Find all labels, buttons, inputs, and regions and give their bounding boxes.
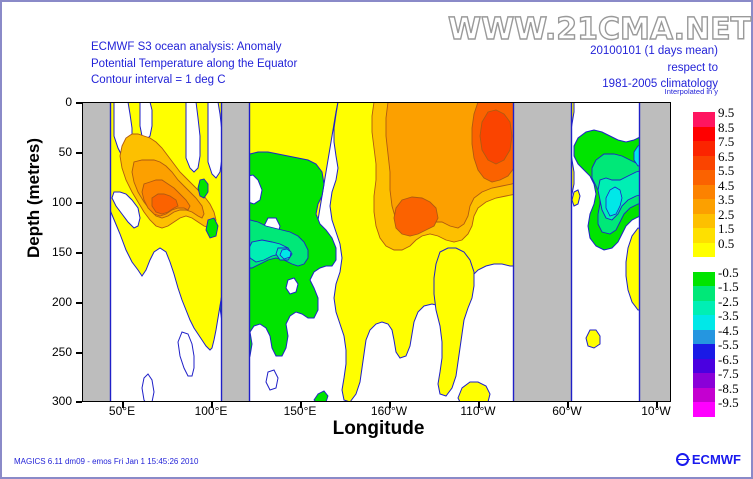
colorbar-label-15: -5.5 [718,338,739,351]
colorbar-swatch-warm-1 [693,127,715,142]
colorbar-swatch-cool-1 [693,286,715,301]
footer-credit: MAGICS 6.11 dm09 - emos Fri Jan 1 15:45:… [14,457,198,466]
colorbar-label-11: -1.5 [718,280,739,293]
ytick-mark [76,202,82,204]
colorbar-swatch-cool-5 [693,344,715,359]
ytick-mark [76,102,82,104]
colorbar-label-13: -3.5 [718,309,739,322]
ecmwf-logo-text: ECMWF [692,452,741,467]
xtick-label-60W: 60°W [532,404,602,418]
colorbar-swatch-warm-7 [693,214,715,229]
colorbar-swatch-cool-4 [693,330,715,345]
colorbar-label-8: 1.5 [718,222,734,235]
colorbar-label-17: -7.5 [718,367,739,380]
colorbar-swatch-neutral [693,257,715,272]
ytick-label-0: 0 [32,95,72,109]
ytick-mark [76,401,82,403]
colorbar-swatch-warm-9 [693,243,715,258]
respect-to-line: respect to [590,60,718,77]
colorbar-label-12: -2.5 [718,295,739,308]
title-line-3: Contour interval = 1 deg C [91,72,297,89]
colorbar-swatch-cool-3 [693,315,715,330]
colorbar-label-9: 0.5 [718,237,734,250]
contour-plot [82,102,671,402]
colorbar-swatch-warm-5 [693,185,715,200]
xtick-label-160W: 160°W [354,404,424,418]
date-line: 20100101 (1 days mean) [590,43,718,60]
ytick-label-300: 300 [32,394,72,408]
xtick-label-100E: 100°E [176,404,246,418]
xtick-label-10W: 10°W [621,404,691,418]
colorbar-swatch-warm-0 [693,112,715,127]
ytick-label-200: 200 [32,295,72,309]
colorbar-label-1: 8.5 [718,121,734,134]
colorbar-swatch-warm-2 [693,141,715,156]
colorbar-label-6: 3.5 [718,193,734,206]
y-axis-label: Depth (metres) [24,108,44,288]
colorbar-label-2: 7.5 [718,135,734,148]
colorbar-label-5: 4.5 [718,179,734,192]
ytick-mark [76,152,82,154]
ecmwf-logo: ECMWF [676,452,741,467]
x-axis-label: Longitude [2,418,753,440]
ytick-mark [76,302,82,304]
colorbar-label-10: -0.5 [718,266,739,279]
xtick-label-150E: 150°E [265,404,335,418]
colorbar-label-19: -9.5 [718,396,739,409]
colorbar-swatch-cool-9 [693,402,715,417]
watermark-text: WWW.21CMA.NET [448,12,751,47]
title-right-block: 20100101 (1 days mean) respect to 1981-2… [590,43,718,93]
title-line-1: ECMWF S3 ocean analysis: Anomaly [91,39,297,56]
colorbar-label-18: -8.5 [718,382,739,395]
colorbar-label-14: -4.5 [718,324,739,337]
colorbar-label-4: 5.5 [718,164,734,177]
ytick-label-250: 250 [32,345,72,359]
xtick-label-50E: 50°E [87,404,157,418]
colorbar-label-0: 9.5 [718,106,734,119]
title-left-block: ECMWF S3 ocean analysis: Anomaly Potenti… [91,39,297,89]
colorbar-swatch-warm-3 [693,156,715,171]
interpolated-note: Interpolated in y [665,87,718,96]
figure-root: WWW.21CMA.NET ECMWF S3 ocean analysis: A… [0,0,753,479]
colorbar-swatch-cool-7 [693,373,715,388]
colorbar-swatch-warm-8 [693,228,715,243]
colorbar-label-3: 6.5 [718,150,734,163]
colorbar-swatch-cool-2 [693,301,715,316]
xtick-label-110W: 110°W [443,404,513,418]
ytick-mark [76,352,82,354]
globe-icon [676,453,689,466]
colorbar-swatch-cool-6 [693,359,715,374]
ytick-mark [76,252,82,254]
colorbar-swatch-warm-6 [693,199,715,214]
title-line-2: Potential Temperature along the Equator [91,56,297,73]
colorbar-swatch-warm-4 [693,170,715,185]
colorbar-swatch-cool-0 [693,272,715,287]
colorbar-label-16: -6.5 [718,353,739,366]
colorbar-swatch-cool-8 [693,388,715,403]
colorbar [693,112,715,417]
colorbar-label-7: 2.5 [718,208,734,221]
